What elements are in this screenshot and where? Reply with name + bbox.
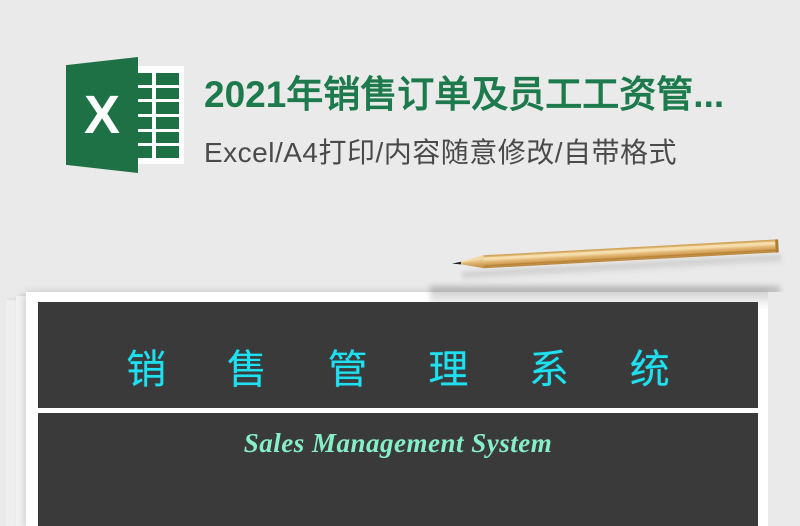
excel-cell	[156, 102, 180, 114]
excel-file-icon: X	[66, 57, 184, 173]
excel-cell	[156, 73, 180, 85]
excel-cell	[156, 146, 180, 158]
excel-cell	[156, 88, 180, 100]
preview-english-title: Sales Management System	[38, 427, 758, 459]
preview-block-title: 销 售 管 理 系 统	[38, 302, 758, 408]
excel-x-letter: X	[66, 57, 138, 173]
preview-chinese-title: 销 售 管 理 系 统	[38, 346, 758, 394]
excel-cell	[156, 132, 180, 144]
page-title: 2021年销售订单及员工工资管...	[204, 73, 784, 117]
screenshot-root: X 2021年销售订单及员工工资管... Excel/A4打印/内容随意修改/自…	[0, 0, 800, 526]
preview-block-subtitle: Sales Management System	[38, 413, 758, 526]
pencil-shadow	[462, 255, 782, 282]
header-band: X 2021年销售订单及员工工资管... Excel/A4打印/内容随意修改/自…	[0, 0, 800, 240]
right-gutter	[768, 292, 800, 526]
page-subtitle: Excel/A4打印/内容随意修改/自带格式	[204, 134, 784, 172]
document-preview-sheet: 销 售 管 理 系 统 Sales Management System	[26, 292, 768, 526]
excel-cell	[156, 117, 180, 129]
